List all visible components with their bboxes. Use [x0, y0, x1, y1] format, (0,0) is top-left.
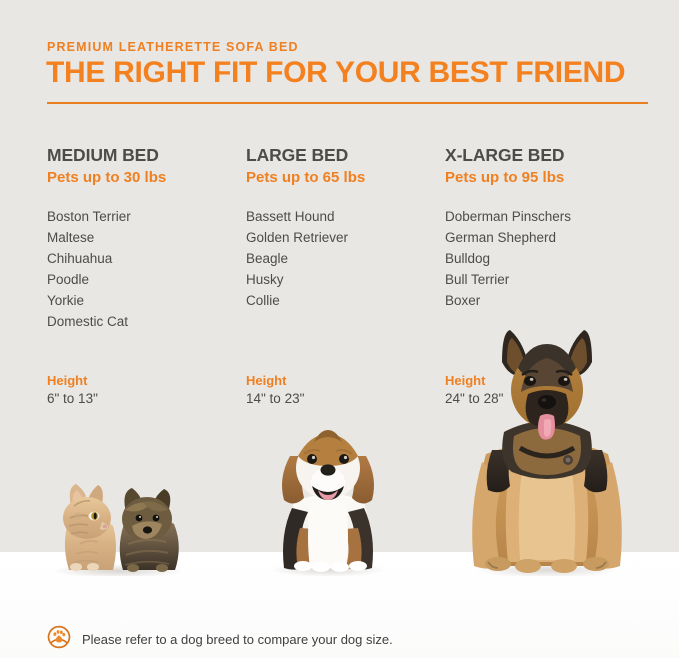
header-divider — [47, 102, 648, 104]
bed-column-large: LARGE BED Pets up to 65 lbs Bassett Houn… — [246, 146, 436, 311]
list-item: Yorkie — [47, 290, 237, 311]
height-value: 14" to 23" — [246, 389, 304, 408]
column-title: LARGE BED — [246, 146, 436, 164]
height-label: Height — [246, 372, 304, 389]
list-item: Boston Terrier — [47, 206, 237, 227]
bed-column-xlarge: X-LARGE BED Pets up to 95 lbs Doberman P… — [445, 146, 650, 311]
height-value: 6" to 13" — [47, 389, 98, 408]
list-item: Bassett Hound — [246, 206, 436, 227]
pet-photo-german-shepherd — [452, 328, 642, 576]
column-title: X-LARGE BED — [445, 146, 650, 164]
breed-list: Boston Terrier Maltese Chihuahua Poodle … — [47, 206, 237, 332]
page-title: THE RIGHT FIT FOR YOUR BEST FRIEND — [46, 56, 625, 90]
eyebrow-text: PREMIUM LEATHERETTE SOFA BED — [47, 40, 299, 54]
list-item: German Shepherd — [445, 227, 650, 248]
list-item: Poodle — [47, 269, 237, 290]
breed-list: Doberman Pinschers German Shepherd Bulld… — [445, 206, 650, 311]
list-item: Doberman Pinschers — [445, 206, 650, 227]
pet-photo-beagle — [248, 416, 408, 576]
list-item: Boxer — [445, 290, 650, 311]
list-item: Collie — [246, 290, 436, 311]
column-weight-capacity: Pets up to 65 lbs — [246, 170, 436, 186]
column-weight-capacity: Pets up to 30 lbs — [47, 170, 237, 186]
breed-list: Bassett Hound Golden Retriever Beagle Hu… — [246, 206, 436, 311]
height-block: Height 6" to 13" — [47, 372, 98, 408]
height-block: Height 14" to 23" — [246, 372, 304, 408]
list-item: Husky — [246, 269, 436, 290]
column-weight-capacity: Pets up to 95 lbs — [445, 170, 650, 186]
column-title: MEDIUM BED — [47, 146, 237, 164]
list-item: Golden Retriever — [246, 227, 436, 248]
list-item: Domestic Cat — [47, 311, 237, 332]
list-item: Beagle — [246, 248, 436, 269]
footer-note: Please refer to a dog breed to compare y… — [47, 625, 393, 654]
list-item: Chihuahua — [47, 248, 237, 269]
infographic-page: PREMIUM LEATHERETTE SOFA BED THE RIGHT F… — [0, 0, 679, 658]
list-item: Maltese — [47, 227, 237, 248]
paw-badge-icon — [47, 625, 71, 654]
bed-column-medium: MEDIUM BED Pets up to 30 lbs Boston Terr… — [47, 146, 237, 332]
list-item: Bull Terrier — [445, 269, 650, 290]
height-label: Height — [47, 372, 98, 389]
list-item: Bulldog — [445, 248, 650, 269]
pet-photo-cat-and-yorkie — [40, 466, 200, 576]
footer-note-text: Please refer to a dog breed to compare y… — [82, 632, 393, 647]
